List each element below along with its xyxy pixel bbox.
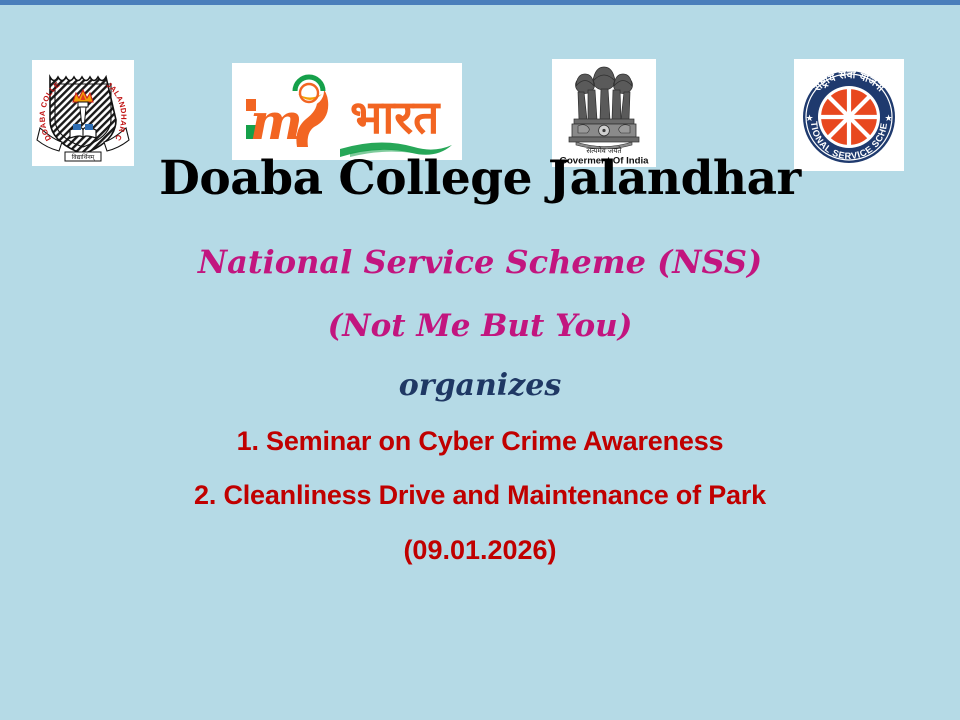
slide-text-content: Doaba College Jalandhar National Service… [0, 150, 960, 566]
activity-item: 2. Cleanliness Drive and Maintenance of … [0, 480, 960, 511]
logo-strip: DOABA COLLEGE JALANDHAR CITY विद्यार्थिन… [0, 30, 960, 142]
organizes-label: organizes [0, 369, 960, 402]
event-date: (09.01.2026) [0, 535, 960, 566]
svg-text:भारत: भारत [350, 90, 441, 144]
scheme-motto: (Not Me But You) [0, 309, 960, 343]
svg-text:m: m [250, 92, 303, 151]
activity-item: 1. Seminar on Cyber Crime Awareness [0, 426, 960, 457]
svg-text:★: ★ [884, 113, 892, 123]
my-bharat-logo-icon: m भारत [232, 63, 462, 160]
presentation-slide: DOABA COLLEGE JALANDHAR CITY विद्यार्थिन… [0, 0, 960, 720]
svg-text:★: ★ [805, 113, 813, 123]
page-title: Doaba College Jalandhar [0, 154, 960, 203]
top-accent-rule [0, 0, 960, 5]
scheme-name: National Service Scheme (NSS) [0, 245, 960, 280]
